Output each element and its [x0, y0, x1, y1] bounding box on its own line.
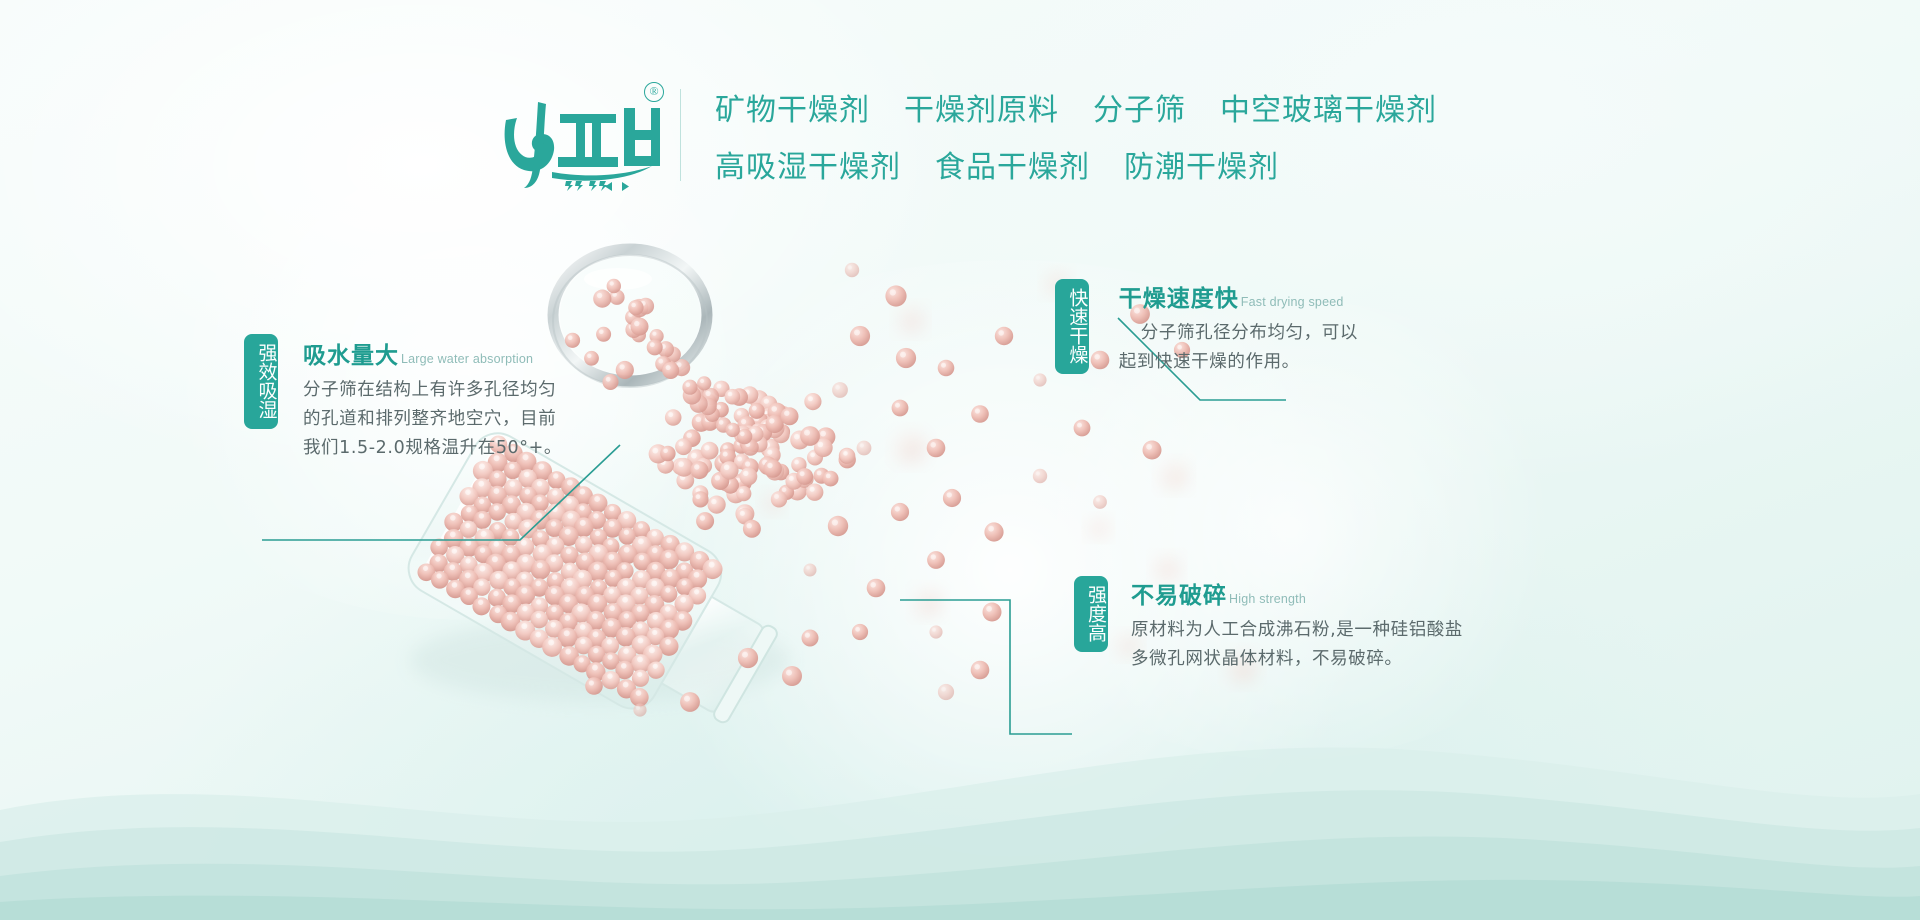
- feature-title-absorption: 吸水量大: [303, 336, 399, 370]
- feature-callout-absorption: 强效吸湿 吸水量大 Large water absorption 分子筛在结构上…: [232, 334, 562, 463]
- feature-text-speed: 分子筛孔径分布均匀，可以 起到快速干燥的作用。: [1119, 319, 1358, 377]
- keyword-nav-row-2: 高吸湿干燥剂 食品干燥剂 防潮干燥剂: [715, 142, 1437, 186]
- header-divider: [680, 89, 681, 181]
- feature-callout-speed: 快速干燥 干燥速度快 Fast drying speed 分子筛孔径分布均匀，可…: [1038, 279, 1358, 377]
- nav-item-food-desiccant[interactable]: 食品干燥剂: [935, 142, 1090, 186]
- decorative-waves: [0, 690, 1920, 920]
- brand-logo[interactable]: ®: [500, 78, 660, 196]
- feature-badge-absorption: 强效吸湿: [244, 334, 278, 429]
- feature-badge-strength: 强度高: [1074, 576, 1108, 652]
- feature-subtitle-strength: High strength: [1229, 592, 1306, 606]
- feature-title-strength: 不易破碎: [1131, 576, 1227, 610]
- feature-subtitle-speed: Fast drying speed: [1241, 295, 1344, 309]
- registered-trademark-icon: ®: [644, 82, 664, 102]
- nav-item-insulating-glass-desiccant[interactable]: 中空玻璃干燥剂: [1220, 85, 1437, 129]
- nav-item-molecular-sieve[interactable]: 分子筛: [1093, 85, 1186, 129]
- logo-mark-icon: [500, 78, 660, 196]
- feature-subtitle-absorption: Large water absorption: [401, 352, 533, 366]
- nav-item-mineral-desiccant[interactable]: 矿物干燥剂: [715, 85, 870, 129]
- keyword-nav: 矿物干燥剂 干燥剂原料 分子筛 中空玻璃干燥剂 高吸湿干燥剂 食品干燥剂 防潮干…: [715, 85, 1437, 186]
- feature-title-speed: 干燥速度快: [1119, 279, 1239, 313]
- banner-stage: ® 矿物干燥剂 干燥剂原料 分子筛 中空玻璃干燥剂 高吸湿干燥剂 食品干燥剂 防…: [0, 0, 1920, 920]
- nav-item-moistureproof-desiccant[interactable]: 防潮干燥剂: [1124, 142, 1279, 186]
- feature-text-absorption: 分子筛在结构上有许多孔径均匀 的孔道和排列整齐地空穴，目前 我们1.5-2.0规…: [303, 376, 562, 463]
- nav-item-desiccant-raw-material[interactable]: 干燥剂原料: [904, 85, 1059, 129]
- feature-badge-speed: 快速干燥: [1055, 279, 1089, 374]
- keyword-nav-row-1: 矿物干燥剂 干燥剂原料 分子筛 中空玻璃干燥剂: [715, 85, 1437, 129]
- nav-item-high-humidity-desiccant[interactable]: 高吸湿干燥剂: [715, 142, 901, 186]
- site-header: ® 矿物干燥剂 干燥剂原料 分子筛 中空玻璃干燥剂 高吸湿干燥剂 食品干燥剂 防…: [0, 0, 1920, 270]
- feature-callout-strength: 强度高 不易破碎 High strength 原材料为人工合成沸石粉,是一种硅铝…: [1063, 576, 1463, 674]
- feature-text-strength: 原材料为人工合成沸石粉,是一种硅铝酸盐 多微孔网状晶体材料，不易破碎。: [1131, 616, 1463, 674]
